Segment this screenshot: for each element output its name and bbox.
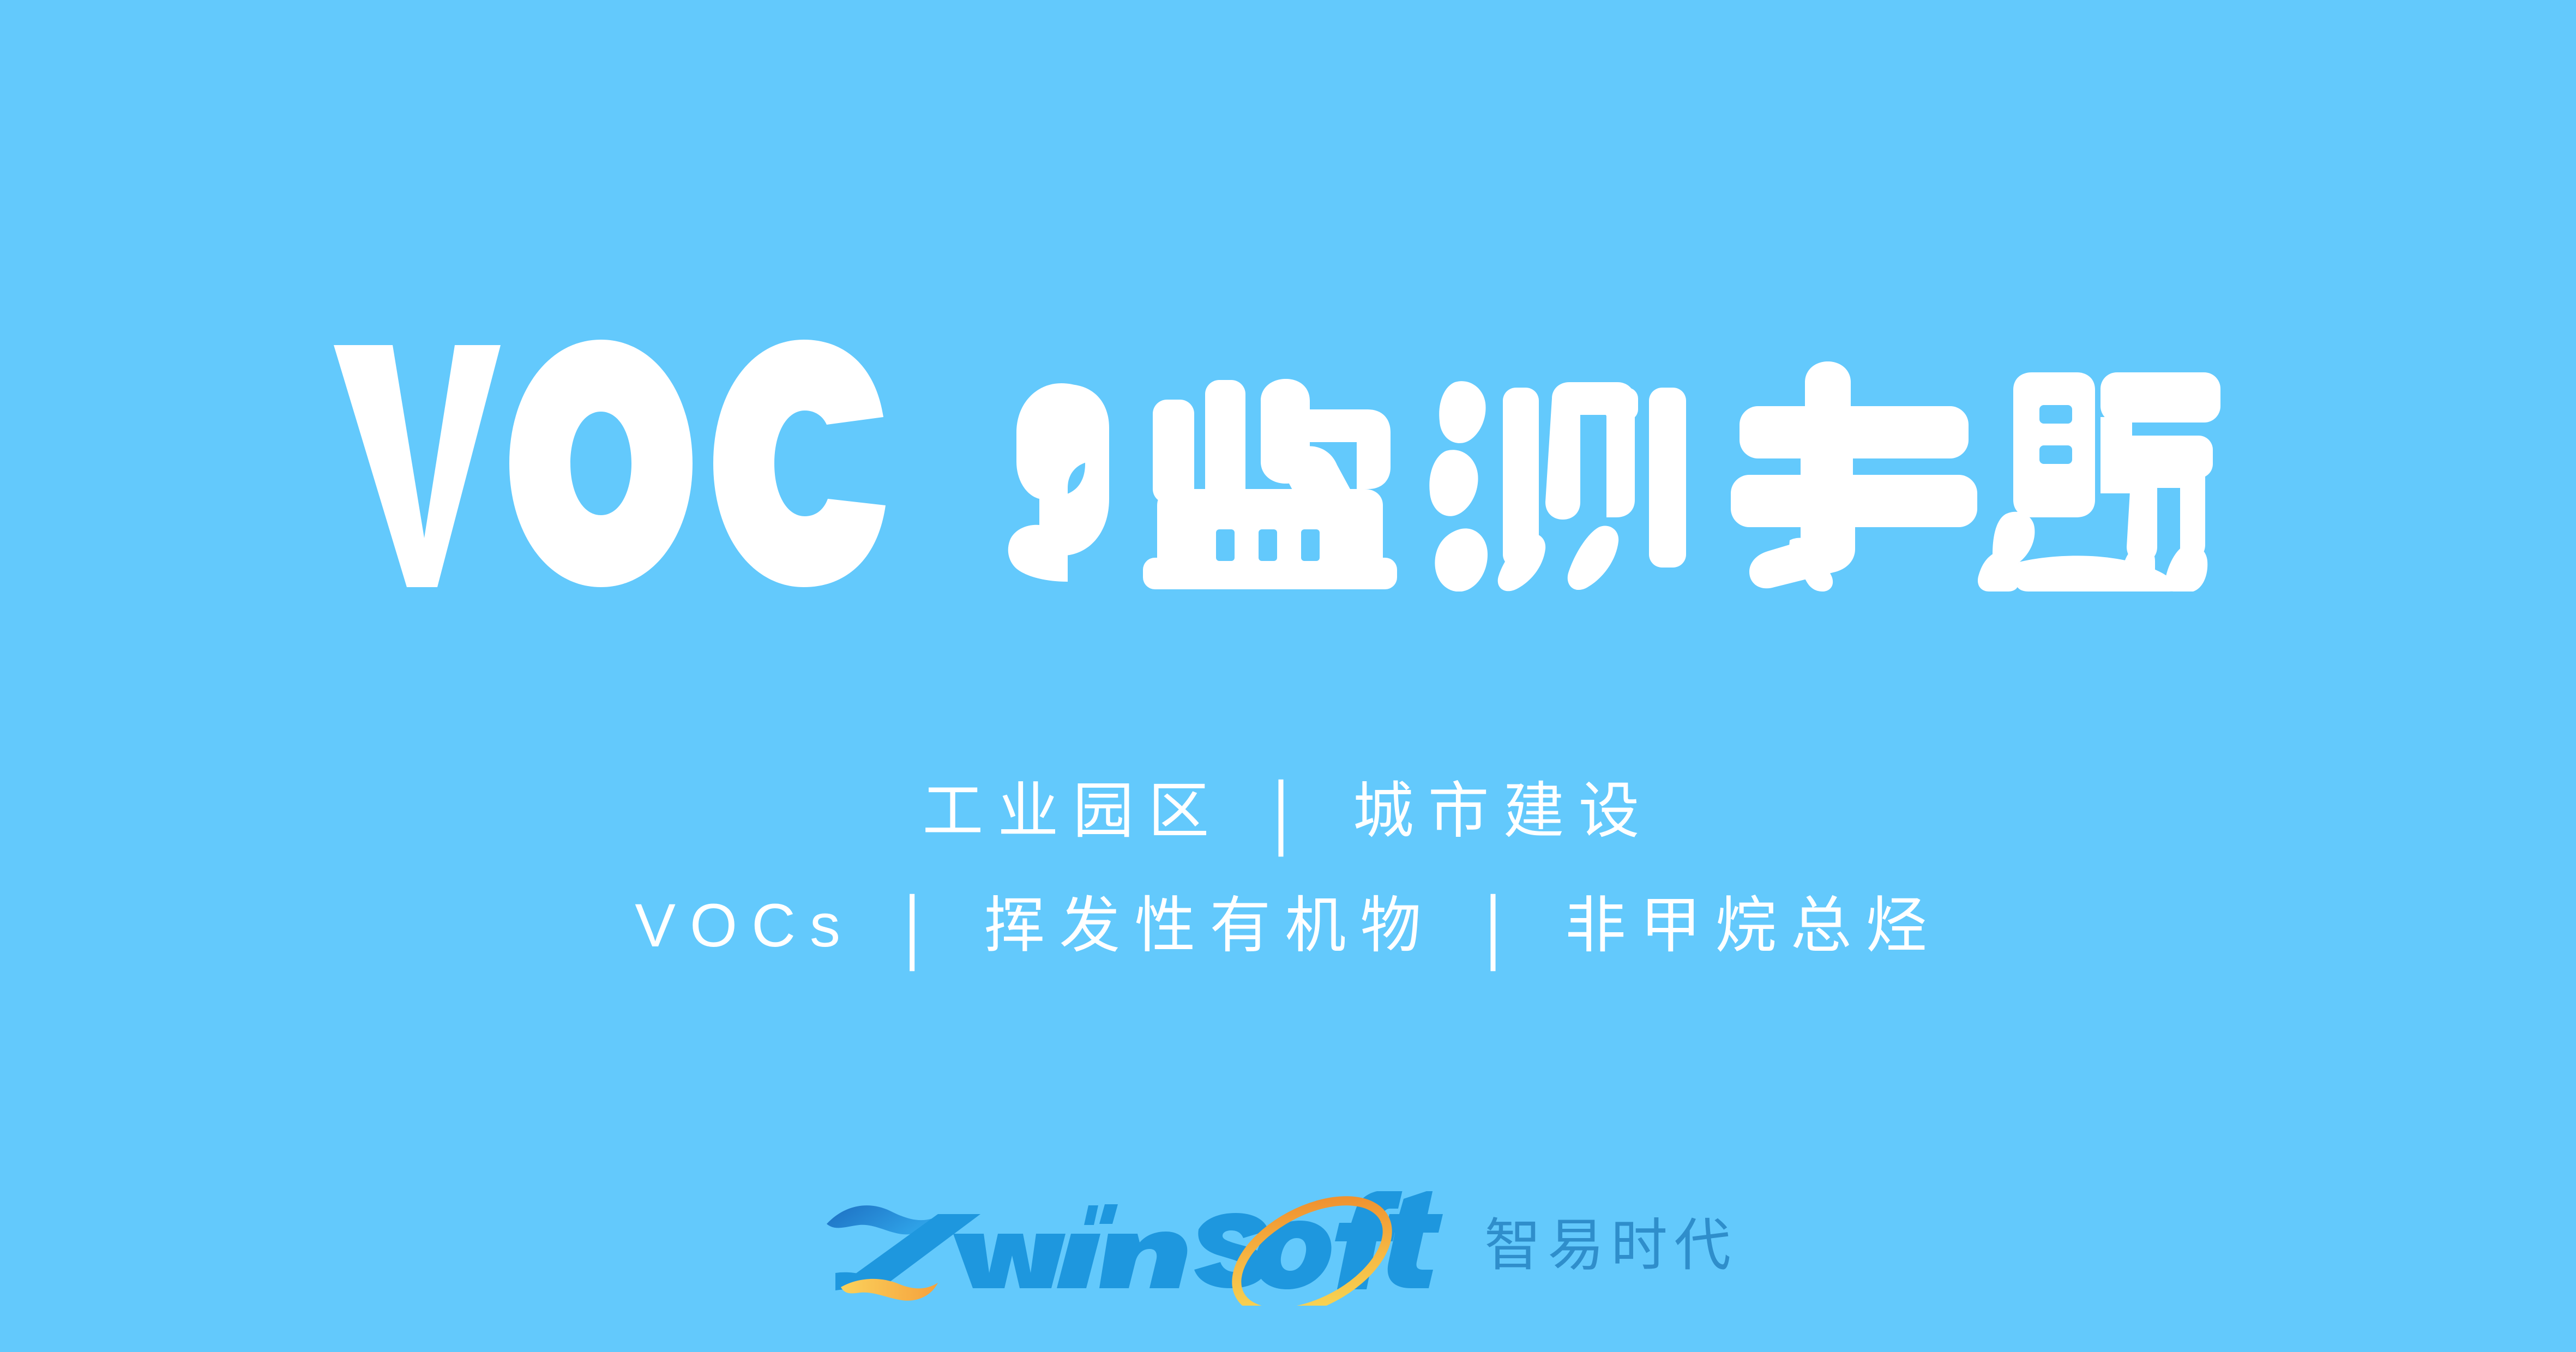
title-glyph-c: [713, 340, 886, 587]
title-glyph-zhuan: [1731, 361, 1977, 591]
page-title: [0, 327, 2576, 600]
slide-canvas: 工业园区 | 城市建设 VOCs | 挥发性有机物 | 非甲烷总烃: [0, 0, 2576, 1352]
title-glyph-o: [509, 340, 693, 587]
subtitle-segment: 非甲烷总烃: [1565, 891, 1941, 959]
title-glyph-ti: [1978, 372, 2220, 591]
subtitle-separator: |: [886, 874, 953, 977]
subtitle-separator: |: [1254, 760, 1321, 863]
subtitle-segment: 工业园区: [922, 777, 1223, 845]
subtitle-line-1: 工业园区 | 城市建设: [0, 773, 2576, 849]
subtitle-separator: |: [1466, 874, 1533, 977]
title-glyph-jian: [1143, 379, 1397, 589]
title-glyph-s: [1008, 383, 1109, 582]
brand-name-cn: 智易时代: [1484, 1218, 1737, 1279]
title-artwork: [328, 335, 2248, 591]
subtitle-segment: VOCs: [635, 891, 854, 959]
subtitle-line-2: VOCs | 挥发性有机物 | 非甲烷总烃: [0, 888, 2576, 964]
title-glyph-v: [334, 345, 501, 587]
title-glyph-ce: [1429, 381, 1686, 591]
subtitle-segment: 城市建设: [1353, 777, 1654, 845]
zwinsoft-logo-icon: [817, 1191, 1449, 1306]
footer-brand-lockup: 智易时代: [0, 1191, 2576, 1306]
subtitle-segment: 挥发性有机物: [984, 891, 1435, 959]
